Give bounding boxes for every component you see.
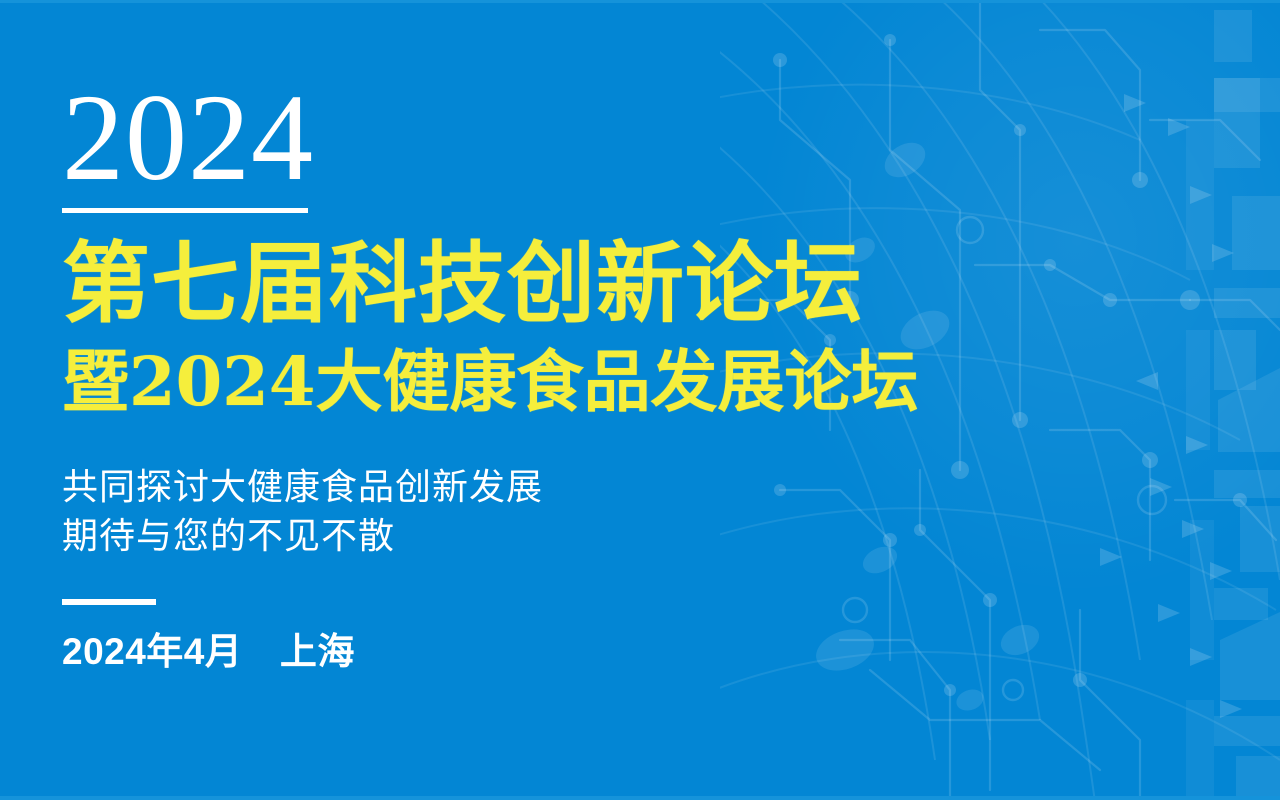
year-mark: 2024 xyxy=(62,0,918,194)
poster-canvas: 2024 第七届科技创新论坛 暨2024大健康食品发展论坛 共同探讨大健康食品创… xyxy=(0,0,1280,800)
page-subtitle: 暨2024大健康食品发展论坛 xyxy=(62,329,918,417)
bottom-edge-strip xyxy=(0,796,1280,800)
event-date-location: 2024年4月 上海 xyxy=(62,605,918,670)
page-title: 第七届科技创新论坛 xyxy=(62,213,918,329)
top-edge-strip xyxy=(0,0,1280,3)
tagline-line-1: 共同探讨大健康食品创新发展 xyxy=(62,462,918,512)
tagline-line-2: 期待与您的不见不散 xyxy=(62,511,918,561)
tagline-block: 共同探讨大健康食品创新发展 期待与您的不见不散 xyxy=(62,418,918,561)
poster-content: 2024 第七届科技创新论坛 暨2024大健康食品发展论坛 共同探讨大健康食品创… xyxy=(0,0,918,670)
